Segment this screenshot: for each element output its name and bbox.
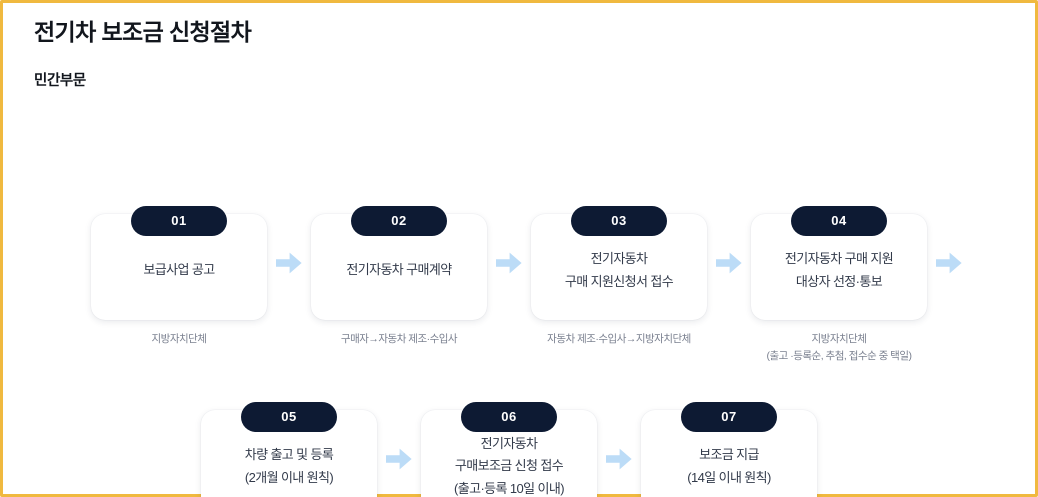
step-card-line: 보조금 지급 [647, 444, 811, 466]
step-card-line: 전기자동차 [537, 248, 701, 270]
step-caption-line: (출고 ·등록순, 추첨, 접수순 중 택일) [734, 348, 944, 365]
step-card-text: 전기자동차 구매보조금 신청 접수 (출고·등록 10일 이내) [421, 433, 597, 497]
step-card-text: 전기자동차 구매 지원 대상자 선정·통보 [751, 248, 927, 293]
step-caption: 지방자치단체 [74, 331, 284, 348]
arrow-right-icon [927, 206, 971, 320]
step-caption: 구매자→자동차 제조·수입사 [294, 331, 504, 348]
step-06[interactable]: 06 전기자동차 구매보조금 신청 접수 (출고·등록 10일 이내) 자동차 … [421, 402, 597, 497]
step-card-line: 전기자동차 구매 지원 [757, 248, 921, 270]
header: 전기차 보조금 신청절차 민간부문 [3, 3, 1035, 90]
page-subtitle: 민간부문 [34, 69, 1035, 90]
step-number-badge: 06 [461, 402, 557, 432]
step-card-line: (출고·등록 10일 이내) [427, 478, 591, 497]
step-card-line: 보급사업 공고 [97, 259, 261, 281]
step-card-line: 전기자동차 구매계약 [317, 259, 481, 281]
step-card-text: 보조금 지급 (14일 이내 원칙) [641, 444, 817, 489]
flow-row-1: 01 보급사업 공고 지방자치단체 [91, 206, 971, 365]
arrow-right-icon [267, 206, 311, 320]
step-card-text: 전기자동차 구매계약 [311, 259, 487, 281]
step-01[interactable]: 01 보급사업 공고 지방자치단체 [91, 206, 267, 348]
infographic-page: 전기차 보조금 신청절차 민간부문 01 보급사업 공고 지방자치단체 [0, 0, 1038, 497]
flow-row-2: 05 차량 출고 및 등록 (2개월 이내 원칙) 자동차 제조·수입사 →구매… [201, 402, 817, 497]
step-caption-line: 구매자→자동차 제조·수입사 [294, 331, 504, 348]
page-title: 전기차 보조금 신청절차 [34, 19, 1035, 47]
arrow-right-icon [377, 402, 421, 497]
step-card-text: 차량 출고 및 등록 (2개월 이내 원칙) [201, 444, 377, 489]
step-card-line: 차량 출고 및 등록 [207, 444, 371, 466]
step-02[interactable]: 02 전기자동차 구매계약 구매자→자동차 제조·수입사 [311, 206, 487, 348]
step-03[interactable]: 03 전기자동차 구매 지원신청서 접수 자동차 제조·수입사→지방자치단체 [531, 206, 707, 348]
step-number-badge: 04 [791, 206, 887, 236]
step-card-line: (2개월 이내 원칙) [207, 467, 371, 489]
arrow-right-icon [597, 402, 641, 497]
step-card-line: 대상자 선정·통보 [757, 271, 921, 293]
step-number-badge: 03 [571, 206, 667, 236]
step-number-badge: 07 [681, 402, 777, 432]
step-card-text: 전기자동차 구매 지원신청서 접수 [531, 248, 707, 293]
step-card-line: 구매 지원신청서 접수 [537, 271, 701, 293]
step-card-line: 전기자동차 [427, 433, 591, 455]
step-card-wrap: 03 전기자동차 구매 지원신청서 접수 [531, 206, 707, 320]
step-number-badge: 02 [351, 206, 447, 236]
step-card-wrap: 02 전기자동차 구매계약 [311, 206, 487, 320]
step-card-wrap: 06 전기자동차 구매보조금 신청 접수 (출고·등록 10일 이내) [421, 402, 597, 497]
step-caption: 자동차 제조·수입사→지방자치단체 [514, 331, 724, 348]
step-number-badge: 05 [241, 402, 337, 432]
step-card-wrap: 04 전기자동차 구매 지원 대상자 선정·통보 [751, 206, 927, 320]
step-05[interactable]: 05 차량 출고 및 등록 (2개월 이내 원칙) 자동차 제조·수입사 →구매… [201, 402, 377, 497]
step-caption-line: 지방자치단체 [74, 331, 284, 348]
step-caption-line: 지방자치단체 [734, 331, 944, 348]
step-caption: 지방자치단체 (출고 ·등록순, 추첨, 접수순 중 택일) [734, 331, 944, 365]
step-card-wrap: 05 차량 출고 및 등록 (2개월 이내 원칙) [201, 402, 377, 497]
step-card-line: 구매보조금 신청 접수 [427, 455, 591, 477]
arrow-right-icon [487, 206, 531, 320]
step-card-text: 보급사업 공고 [91, 259, 267, 281]
arrow-right-icon [707, 206, 751, 320]
step-number-badge: 01 [131, 206, 227, 236]
step-04[interactable]: 04 전기자동차 구매 지원 대상자 선정·통보 지방자치단체 (출고 ·등록순… [751, 206, 927, 365]
step-card-line: (14일 이내 원칙) [647, 467, 811, 489]
step-caption-line: 자동차 제조·수입사→지방자치단체 [514, 331, 724, 348]
step-07[interactable]: 07 보조금 지급 (14일 이내 원칙) 지방자치단체→자동차 제조·수입사 [641, 402, 817, 497]
step-card-wrap: 07 보조금 지급 (14일 이내 원칙) [641, 402, 817, 497]
step-card-wrap: 01 보급사업 공고 [91, 206, 267, 320]
